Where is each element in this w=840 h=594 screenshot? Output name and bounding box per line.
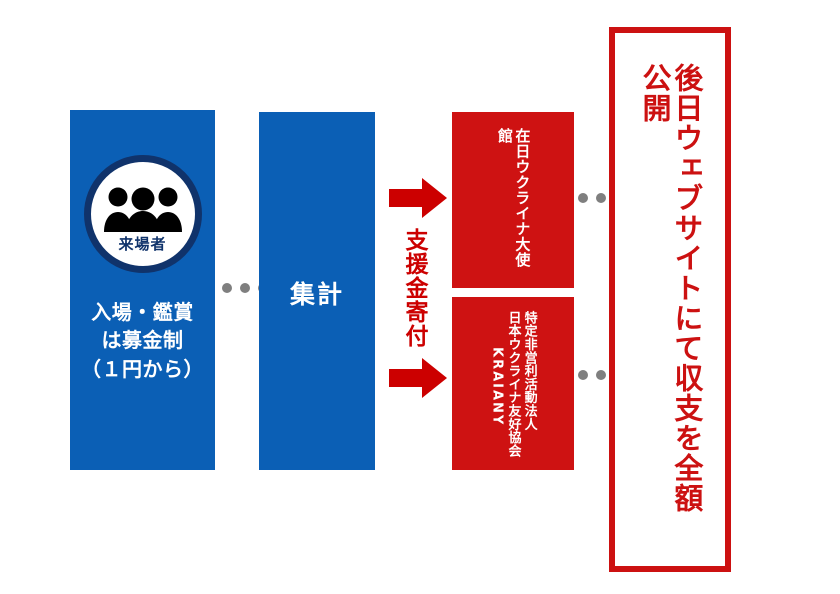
visitors-body-line-2: は募金制 [70, 326, 215, 354]
three-people-icon [101, 186, 185, 232]
visitors-badge-label: 来場者 [91, 233, 195, 254]
panel-visitors: 来場者 入場・鑑賞 は募金制 （１円から） [70, 110, 215, 470]
visitors-badge: 来場者 [84, 155, 202, 273]
visitors-body-line-3: （１円から） [70, 355, 215, 383]
visitors-body-line-1: 入場・鑑賞 [70, 298, 215, 326]
panel-tally: 集計 [259, 112, 375, 470]
arrow-label-donation: 支援金寄付 [393, 228, 427, 348]
dot [240, 283, 250, 293]
recipient-kraiany-label-line-1: 特定非営利活動法人 [522, 311, 537, 431]
recipient-embassy-label: 在日ウクライナ大使館 [496, 128, 531, 276]
result-disclosure-text: 後日ウェブサイトにて収支を全額公開 [638, 63, 702, 541]
arrow-right-icon-bottom [389, 358, 447, 398]
dot [596, 370, 606, 380]
dot [578, 193, 588, 203]
panel-tally-label: 集計 [259, 275, 375, 311]
visitors-body-text: 入場・鑑賞 は募金制 （１円から） [70, 298, 215, 383]
diagram-canvas: 来場者 入場・鑑賞 は募金制 （１円から） 集計 支援金寄付 在日ウクライナ大使… [0, 0, 840, 594]
arrow-right-icon-top [389, 178, 447, 218]
recipient-kraiany-label-line-2: 日本ウクライナ友好協会 [505, 311, 520, 457]
dot [222, 283, 232, 293]
recipient-box-kraiany: 特定非営利活動法人 日本ウクライナ友好協会 KRAIANY [452, 297, 574, 470]
recipient-kraiany-label-latin: KRAIANY [489, 347, 504, 426]
result-disclosure-box: 後日ウェブサイトにて収支を全額公開 [609, 27, 731, 572]
recipient-box-embassy: 在日ウクライナ大使館 [452, 112, 574, 288]
dot [578, 370, 588, 380]
dot [596, 193, 606, 203]
